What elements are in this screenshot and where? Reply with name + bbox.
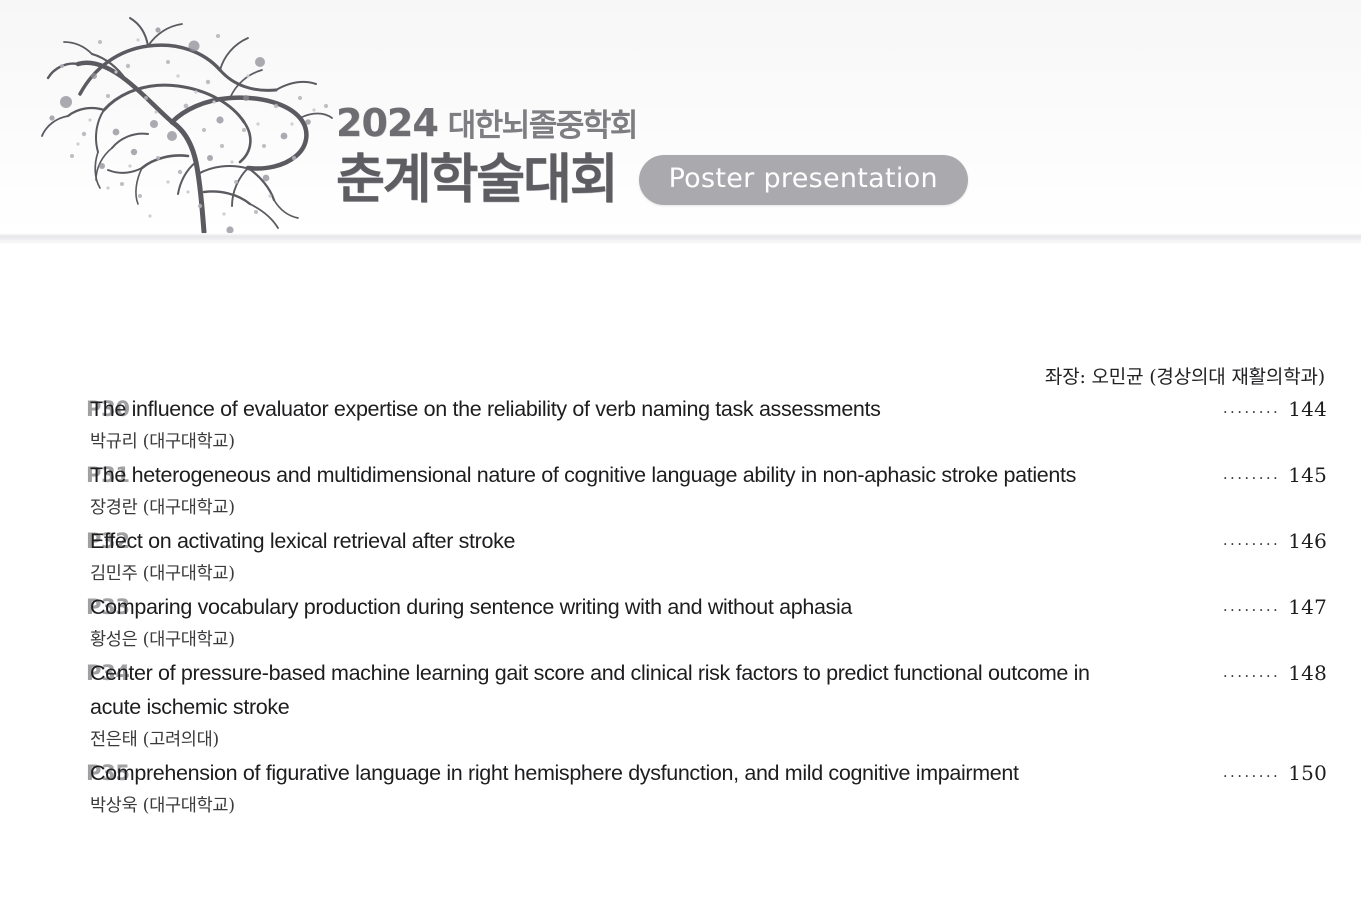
leader-dots: ........ <box>1223 523 1280 557</box>
list-item[interactable]: P32 Effect on activating lexical retriev… <box>0 524 1361 590</box>
poster-code: P35 <box>0 756 86 790</box>
session-chair: 좌장: 오민균 (경상의대 재활의학과) <box>1045 362 1325 389</box>
page-reference: ........ 150 <box>1223 756 1327 792</box>
page-reference: ........ 146 <box>1223 524 1327 560</box>
poster-code: P31 <box>0 458 86 492</box>
list-item[interactable]: P34 Center of pressure-based machine lea… <box>0 656 1361 756</box>
poster-title[interactable]: Center of pressure-based machine learnin… <box>90 656 1105 724</box>
conference-title-block: 2024 대한뇌졸중학회 춘계학술대회 Poster presentation <box>336 104 1036 208</box>
list-item[interactable]: P33 Comparing vocabulary production duri… <box>0 590 1361 656</box>
list-item[interactable]: P30 The influence of evaluator expertise… <box>0 392 1361 458</box>
title-line-two: 춘계학술대회 Poster presentation <box>336 152 1036 208</box>
brain-tree-logo <box>8 6 338 234</box>
page-number: 147 <box>1288 590 1327 624</box>
poster-title[interactable]: Effect on activating lexical retrieval a… <box>90 524 1105 558</box>
poster-title[interactable]: The heterogeneous and multidimensional n… <box>90 458 1105 492</box>
poster-author: 박상욱 (대구대학교) <box>90 790 1351 822</box>
page-reference: ........ 147 <box>1223 590 1327 626</box>
list-item[interactable]: P31 The heterogeneous and multidimension… <box>0 458 1361 524</box>
poster-author: 전은태 (고려의대) <box>90 724 1351 756</box>
poster-title[interactable]: Comparing vocabulary production during s… <box>90 590 1105 624</box>
page-reference: ........ 148 <box>1223 656 1327 692</box>
leader-dots: ........ <box>1223 457 1280 491</box>
poster-author: 장경란 (대구대학교) <box>90 492 1351 524</box>
poster-code: P34 <box>0 656 86 690</box>
poster-author: 김민주 (대구대학교) <box>90 558 1351 590</box>
page-reference: ........ 144 <box>1223 392 1327 428</box>
leader-dots: ........ <box>1223 589 1280 623</box>
leader-dots: ........ <box>1223 391 1280 425</box>
page-number: 146 <box>1288 524 1327 558</box>
poster-code: P30 <box>0 392 86 426</box>
poster-presentation-badge: Poster presentation <box>639 155 968 205</box>
poster-code: P32 <box>0 524 86 558</box>
list-item[interactable]: P35 Comprehension of figurative language… <box>0 756 1361 822</box>
page-reference: ........ 145 <box>1223 458 1327 494</box>
society-name: 대한뇌졸중학회 <box>448 111 637 142</box>
page-number: 148 <box>1288 656 1327 690</box>
poster-program-list: P30 The influence of evaluator expertise… <box>0 392 1361 822</box>
poster-author: 박규리 (대구대학교) <box>90 426 1351 458</box>
poster-code: P33 <box>0 590 86 624</box>
page-number: 150 <box>1288 756 1327 790</box>
page-number: 144 <box>1288 392 1327 426</box>
header-divider-shadow <box>0 241 1361 244</box>
conference-name: 춘계학술대회 <box>336 152 617 208</box>
leader-dots: ........ <box>1223 655 1280 689</box>
page-header-banner: 2024 대한뇌졸중학회 춘계학술대회 Poster presentation <box>0 0 1361 234</box>
poster-author: 황성은 (대구대학교) <box>90 624 1351 656</box>
conference-year: 2024 <box>336 104 438 142</box>
poster-title[interactable]: Comprehension of figurative language in … <box>90 756 1105 790</box>
poster-title[interactable]: The influence of evaluator expertise on … <box>90 392 1105 426</box>
leader-dots: ........ <box>1223 755 1280 789</box>
title-line-one: 2024 대한뇌졸중학회 <box>336 104 1036 148</box>
page-number: 145 <box>1288 458 1327 492</box>
